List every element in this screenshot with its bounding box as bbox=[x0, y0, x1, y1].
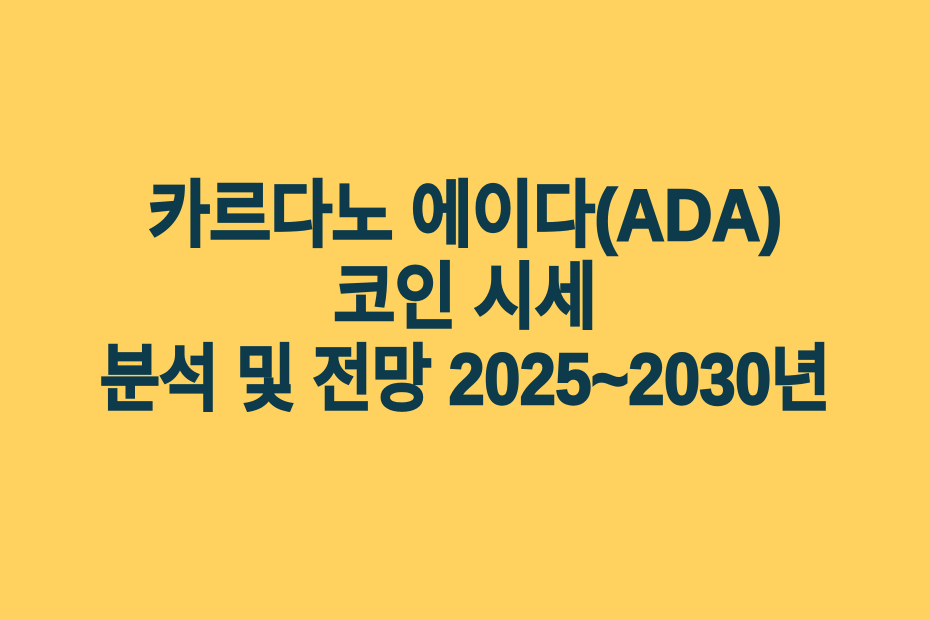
title-line-secondary: 코인 시세 bbox=[33, 262, 898, 334]
title-line-tertiary: 분석 및 전망 2025~2030년 bbox=[47, 344, 884, 416]
title-block: 카르다노 에이다(ADA) 코인 시세 분석 및 전망 2025~2030년 bbox=[0, 180, 930, 416]
thumbnail-card: 카르다노 에이다(ADA) 코인 시세 분석 및 전망 2025~2030년 bbox=[0, 0, 930, 620]
title-line-primary: 카르다노 에이다(ADA) bbox=[33, 180, 898, 252]
